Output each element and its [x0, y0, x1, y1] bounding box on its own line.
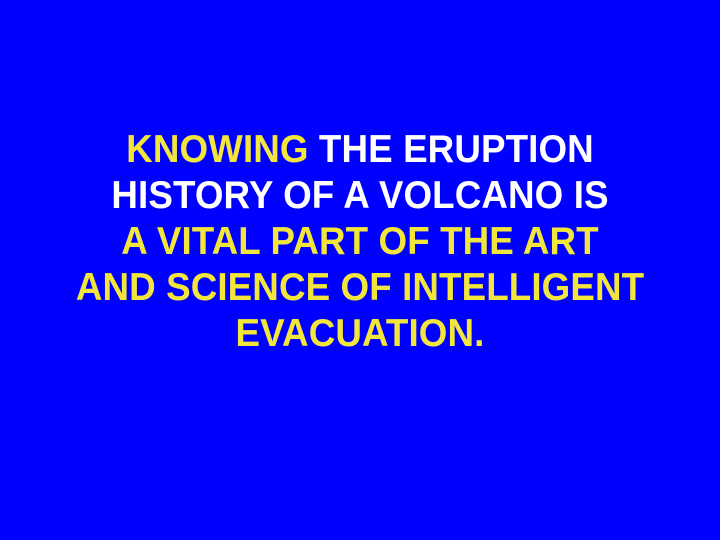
slide-line-1-segment-2 [309, 128, 319, 171]
slide-text-block: KNOWING THE ERUPTION HISTORY OF A VOLCAN… [0, 0, 720, 357]
slide-line-1-segment-1: KNOWING [126, 128, 308, 171]
slide-line-3-segment-1: A VITAL PART OF THE ART [121, 220, 598, 263]
slide-line-2-segment-1: HISTORY OF A VOLCANO IS [111, 174, 608, 217]
slide-line-1: KNOWING THE ERUPTION [16, 127, 704, 173]
slide-line-4-segment-1: AND SCIENCE OF INTELLIGENT [76, 266, 644, 309]
slide-line-5: EVACUATION. [16, 311, 704, 357]
slide-line-5-segment-1: EVACUATION. [236, 312, 485, 355]
slide-line-3: A VITAL PART OF THE ART [16, 219, 704, 265]
slide-line-1-segment-3: THE ERUPTION [319, 128, 594, 171]
slide-line-4: AND SCIENCE OF INTELLIGENT [16, 265, 704, 311]
presentation-slide: KNOWING THE ERUPTION HISTORY OF A VOLCAN… [0, 0, 720, 540]
slide-line-2: HISTORY OF A VOLCANO IS [16, 173, 704, 219]
